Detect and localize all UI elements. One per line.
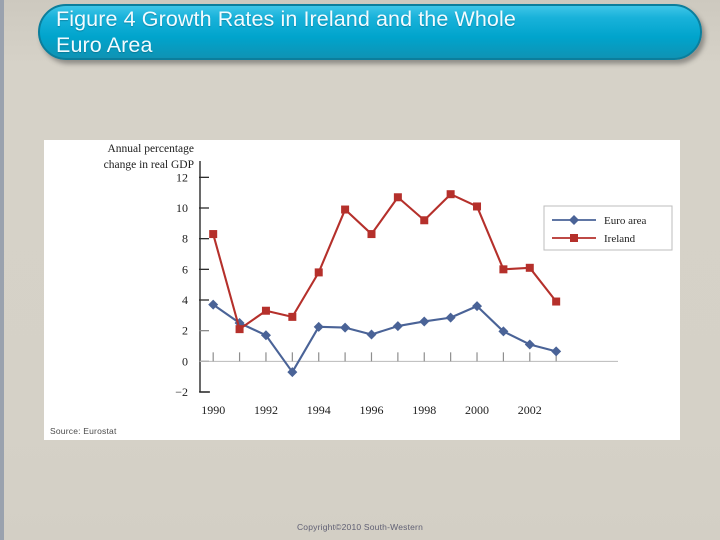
svg-text:12: 12 — [176, 170, 188, 184]
svg-text:1994: 1994 — [307, 403, 331, 417]
svg-text:8: 8 — [182, 232, 188, 246]
chart-legend: Euro areaIreland — [544, 206, 672, 250]
svg-text:Annual percentage: Annual percentage — [107, 143, 194, 155]
legend-label-ireland: Ireland — [604, 233, 636, 245]
svg-text:4: 4 — [182, 293, 188, 307]
legend-label-euro-area: Euro area — [604, 215, 647, 227]
chart-figure-panel: Annual percentagechange in real GDP −202… — [44, 140, 680, 440]
svg-text:6: 6 — [182, 262, 188, 276]
svg-text:2: 2 — [182, 324, 188, 338]
svg-text:change in real GDP: change in real GDP — [104, 159, 194, 171]
svg-text:10: 10 — [176, 201, 188, 215]
svg-text:1990: 1990 — [201, 403, 225, 417]
page-title: Figure 4 Growth Rates in Ireland and the… — [56, 6, 676, 58]
slide-canvas: Figure 4 Growth Rates in Ireland and the… — [0, 0, 720, 540]
source-note: Source: Eurostat — [50, 426, 117, 436]
svg-text:1992: 1992 — [254, 403, 278, 417]
svg-text:1998: 1998 — [412, 403, 436, 417]
chart-background — [44, 140, 680, 440]
svg-text:0: 0 — [182, 354, 188, 368]
growth-rates-line-chart: Annual percentagechange in real GDP −202… — [44, 140, 680, 440]
svg-text:−2: −2 — [175, 385, 188, 399]
svg-text:2000: 2000 — [465, 403, 489, 417]
slide-left-edge — [0, 0, 4, 540]
svg-text:1996: 1996 — [359, 403, 383, 417]
footer-copyright: Copyright©2010 South-Western — [0, 522, 720, 532]
svg-text:2002: 2002 — [518, 403, 542, 417]
